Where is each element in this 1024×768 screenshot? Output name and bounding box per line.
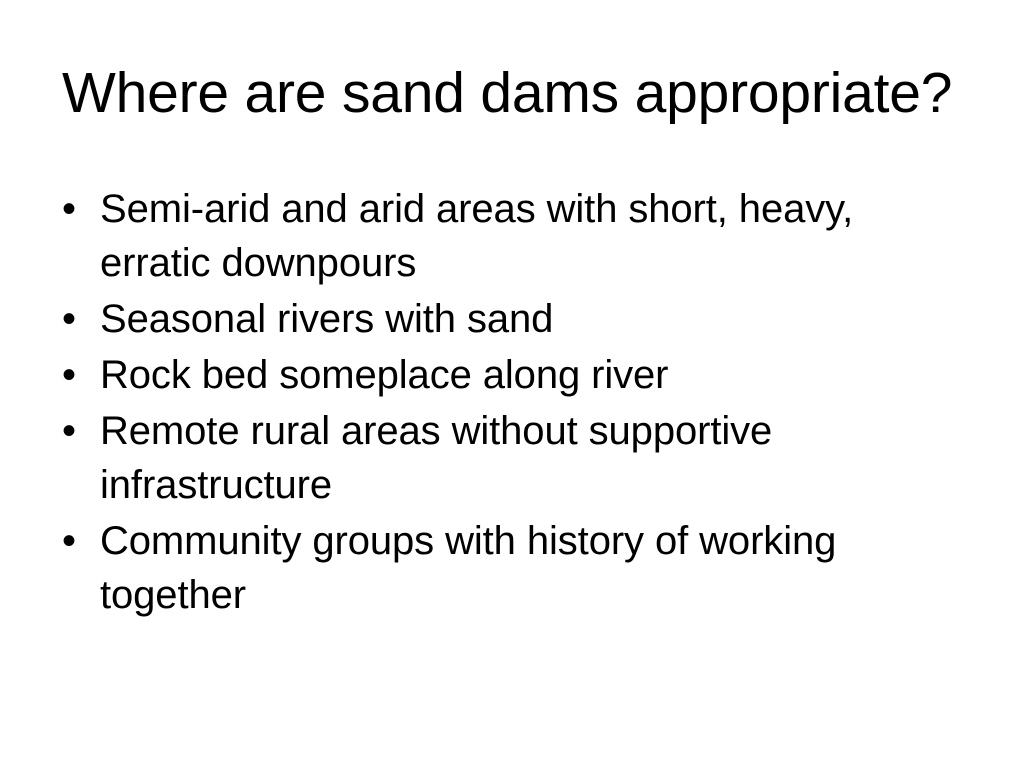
slide-title: Where are sand dams appropriate? — [62, 62, 974, 124]
bullet-item-3: • Rock bed someplace along river — [56, 348, 968, 403]
bullet-point-icon: • — [56, 514, 100, 568]
bullet-item-2: • Seasonal rivers with sand — [56, 292, 968, 347]
bullet-point-icon: • — [56, 348, 100, 402]
bullet-item-text: Semi-arid and arid areas with short, hea… — [100, 182, 968, 290]
bullet-point-icon: • — [56, 404, 100, 458]
bullet-item-text: Community groups with history of working… — [100, 514, 968, 622]
bullet-point-icon: • — [56, 292, 100, 346]
bullet-item-text: Rock bed someplace along river — [100, 348, 968, 402]
bullet-item-1: • Semi-arid and arid areas with short, h… — [56, 182, 968, 291]
presentation-slide: Where are sand dams appropriate? • Semi-… — [0, 0, 1024, 768]
bullet-item-text: Seasonal rivers with sand — [100, 292, 968, 346]
bullet-item-text: Remote rural areas without supportive in… — [100, 404, 968, 512]
bullet-item-4: • Remote rural areas without supportive … — [56, 404, 968, 513]
bullet-point-icon: • — [56, 182, 100, 236]
bullet-item-5: • Community groups with history of worki… — [56, 514, 968, 623]
bullet-list: • Semi-arid and arid areas with short, h… — [56, 182, 968, 624]
